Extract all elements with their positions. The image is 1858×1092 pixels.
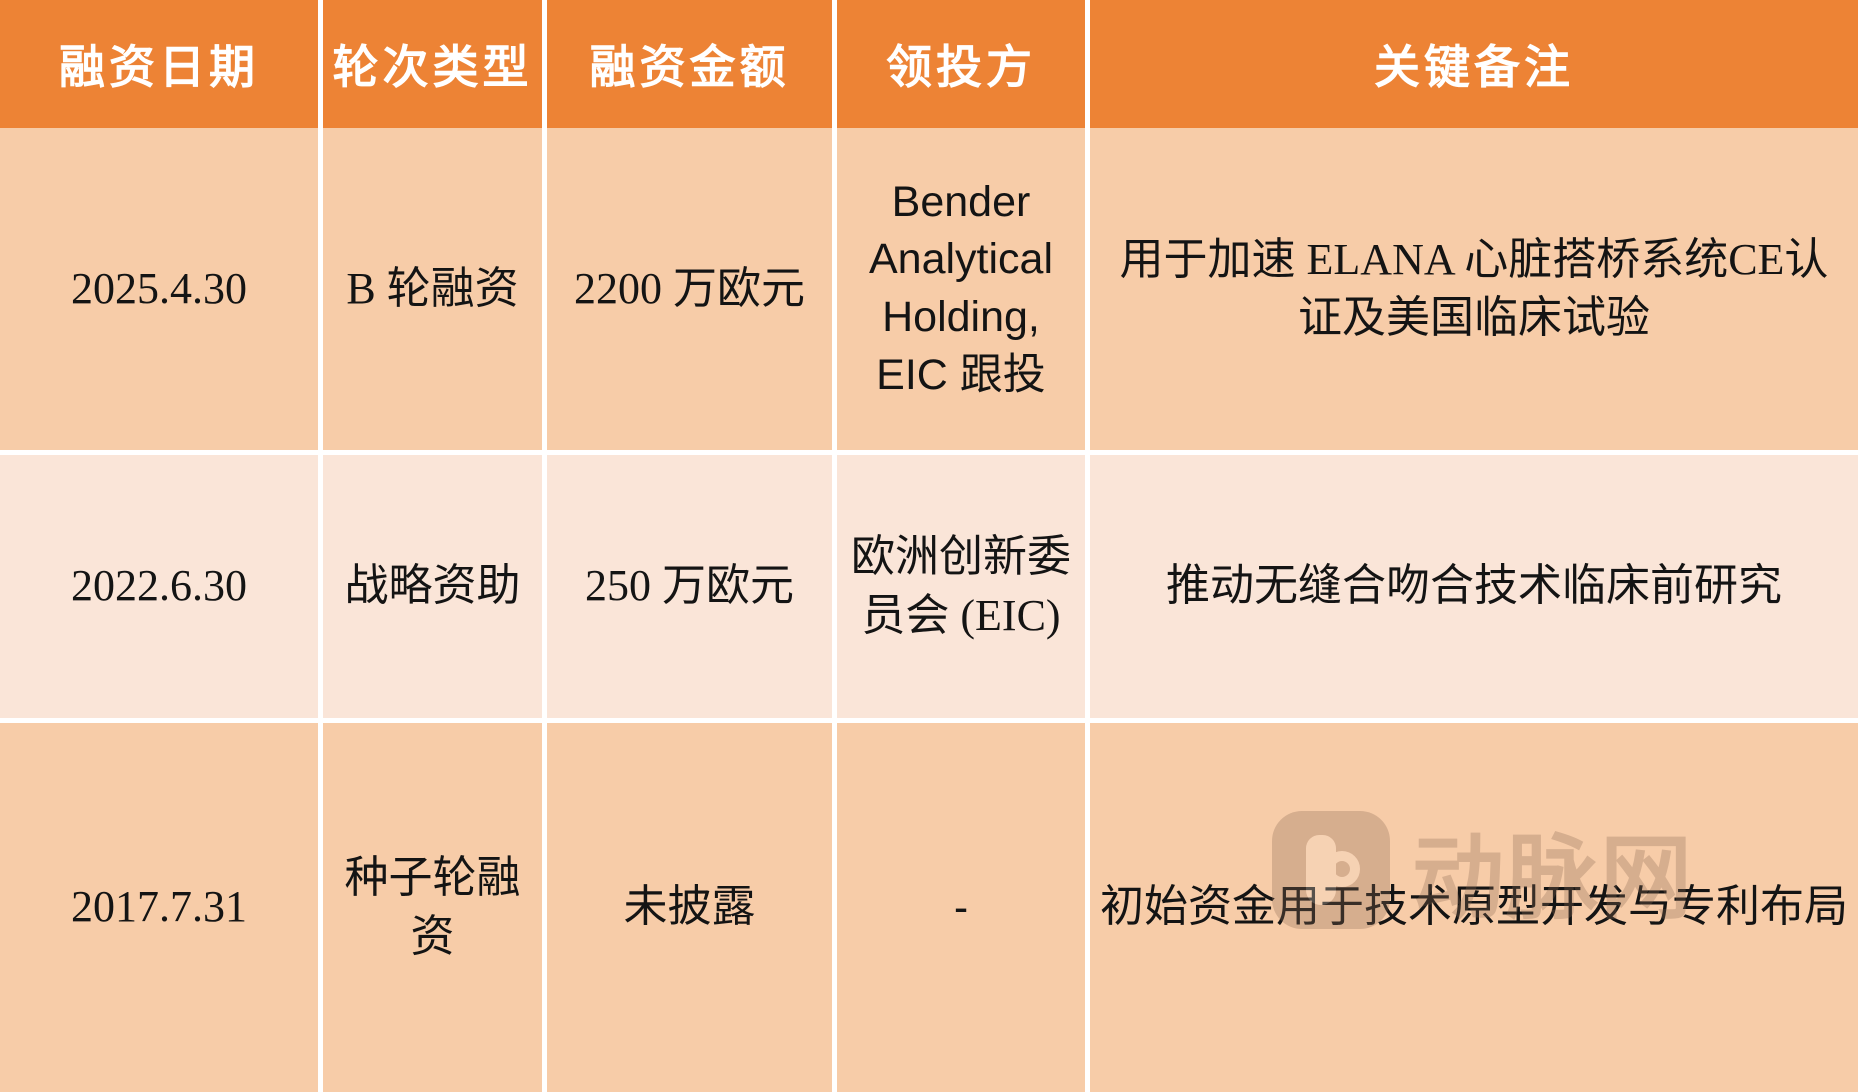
table-row: 2022.6.30 战略资助 250 万欧元 欧洲创新委员会 (EIC) 推动无… xyxy=(0,455,1858,723)
cell-round-type: 种子轮融资 xyxy=(323,723,547,1092)
cell-round-type: 战略资助 xyxy=(323,455,547,723)
cell-lead-investor: 欧洲创新委员会 (EIC) xyxy=(837,455,1090,723)
cell-amount: 未披露 xyxy=(547,723,837,1092)
cell-funding-date: 2025.4.30 xyxy=(0,128,323,455)
cell-key-notes: 用于加速 ELANA 心脏搭桥系统CE认证及美国临床试验 xyxy=(1090,128,1858,455)
funding-history-table: 融资日期 轮次类型 融资金额 领投方 关键备注 2025.4.30 B 轮融资 … xyxy=(0,0,1858,1092)
cell-key-notes: 推动无缝合吻合技术临床前研究 xyxy=(1090,455,1858,723)
header-cell-lead-investor: 领投方 xyxy=(837,0,1090,128)
table-row: 2025.4.30 B 轮融资 2200 万欧元 Bender Analytic… xyxy=(0,128,1858,455)
cell-funding-date: 2017.7.31 xyxy=(0,723,323,1092)
cell-key-notes: 初始资金用于技术原型开发与专利布局 xyxy=(1090,723,1858,1092)
cell-amount: 250 万欧元 xyxy=(547,455,837,723)
cell-lead-investor: - xyxy=(837,723,1090,1092)
cell-funding-date: 2022.6.30 xyxy=(0,455,323,723)
header-cell-key-notes: 关键备注 xyxy=(1090,0,1858,128)
cell-round-type: B 轮融资 xyxy=(323,128,547,455)
funding-history-table-container: 融资日期 轮次类型 融资金额 领投方 关键备注 2025.4.30 B 轮融资 … xyxy=(0,0,1858,1092)
header-cell-funding-date: 融资日期 xyxy=(0,0,323,128)
header-row: 融资日期 轮次类型 融资金额 领投方 关键备注 xyxy=(0,0,1858,128)
header-cell-amount: 融资金额 xyxy=(547,0,837,128)
cell-amount: 2200 万欧元 xyxy=(547,128,837,455)
table-row: 2017.7.31 种子轮融资 未披露 - 初始资金用于技术原型开发与专利布局 xyxy=(0,723,1858,1092)
table-header: 融资日期 轮次类型 融资金额 领投方 关键备注 xyxy=(0,0,1858,128)
cell-lead-investor: Bender Analytical Holding, EIC 跟投 xyxy=(837,128,1090,455)
header-cell-round-type: 轮次类型 xyxy=(323,0,547,128)
table-body: 2025.4.30 B 轮融资 2200 万欧元 Bender Analytic… xyxy=(0,128,1858,1092)
